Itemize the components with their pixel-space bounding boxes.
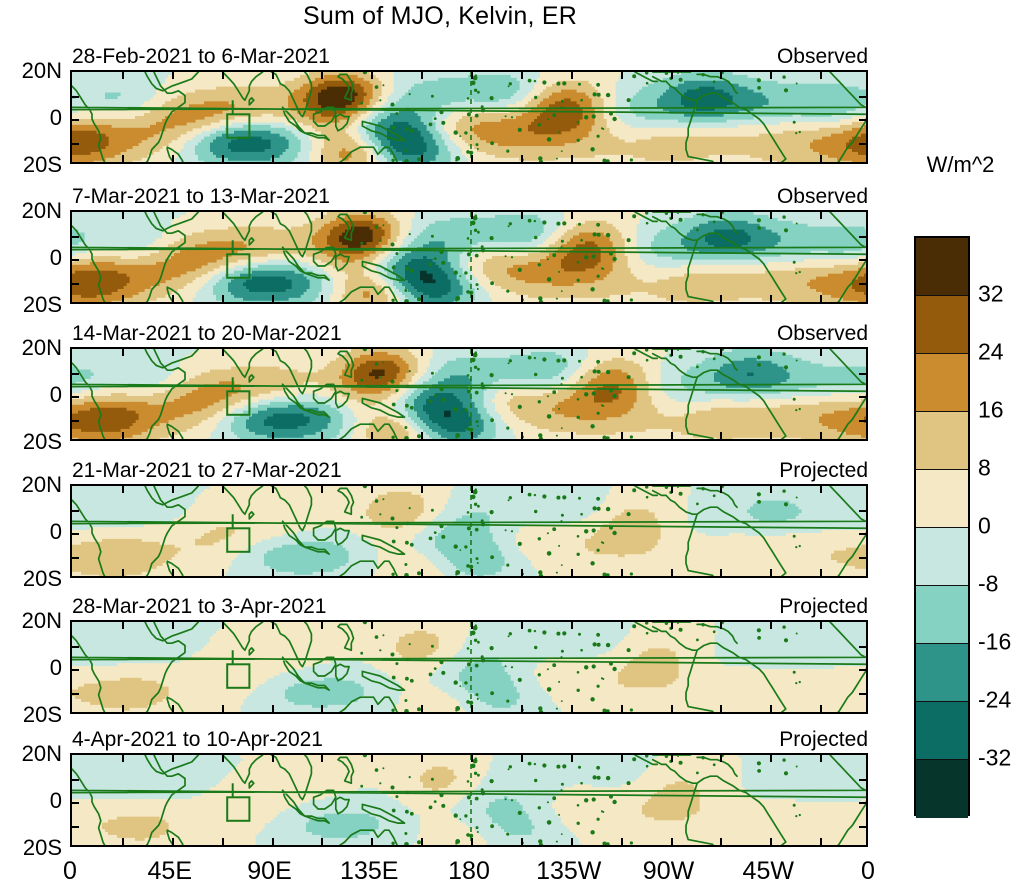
x-tick-mark xyxy=(122,486,124,493)
x-tick-mark xyxy=(720,155,722,162)
map-plot-area-4 xyxy=(70,484,868,578)
colorbar-band-4 xyxy=(916,470,968,528)
colorbar-units-label: W/m^2 xyxy=(900,152,1021,178)
x-tick-mark xyxy=(521,295,523,302)
y-tick-mark xyxy=(859,779,866,781)
y-axis-label-20s-panel-4: 20S xyxy=(23,566,62,592)
x-tick-mark xyxy=(571,155,573,162)
colorbar xyxy=(914,236,970,816)
y-tick-mark xyxy=(859,646,866,648)
x-tick-mark xyxy=(371,705,373,712)
x-tick-mark xyxy=(172,72,174,79)
y-tick-mark xyxy=(859,373,866,375)
x-tick-mark xyxy=(172,349,174,356)
panel-status-5: Projected xyxy=(779,595,868,619)
x-tick-mark xyxy=(222,432,224,439)
x-tick-mark xyxy=(321,569,323,576)
x-tick-mark xyxy=(521,705,523,712)
y-tick-mark xyxy=(72,259,79,261)
x-tick-mark xyxy=(621,349,623,356)
y-tick-mark xyxy=(72,96,79,98)
x-tick-mark xyxy=(321,838,323,845)
y-tick-mark xyxy=(72,396,79,398)
colorbar-tick-5: -8 xyxy=(978,571,998,598)
y-axis-label-20s-panel-6: 20S xyxy=(23,835,62,861)
x-tick-mark xyxy=(770,705,772,712)
y-tick-mark xyxy=(859,826,866,828)
x-tick-mark xyxy=(621,432,623,439)
colorbar-band-5 xyxy=(916,528,968,586)
x-tick-mark xyxy=(421,212,423,219)
x-tick-mark xyxy=(222,349,224,356)
y-tick-mark xyxy=(859,96,866,98)
x-tick-mark xyxy=(770,72,772,79)
x-tick-mark xyxy=(720,432,722,439)
y-tick-mark xyxy=(859,236,866,238)
x-tick-mark xyxy=(720,705,722,712)
y-tick-mark xyxy=(72,119,79,121)
x-tick-mark xyxy=(621,212,623,219)
x-tick-mark xyxy=(770,432,772,439)
y-tick-mark xyxy=(72,283,79,285)
x-tick-mark xyxy=(521,569,523,576)
y-axis-label-0-panel-3: 0 xyxy=(50,382,62,408)
colorbar-band-3 xyxy=(916,412,968,470)
y-tick-mark xyxy=(72,646,79,648)
panel-status-1: Observed xyxy=(777,45,868,69)
panel-title-3: 14-Mar-2021 to 20-Mar-2021 xyxy=(72,322,342,346)
y-tick-mark xyxy=(72,420,79,422)
x-tick-mark xyxy=(621,155,623,162)
x-tick-mark xyxy=(321,72,323,79)
y-axis-label-20n-panel-6: 20N xyxy=(22,741,62,767)
x-tick-mark xyxy=(222,838,224,845)
x-tick-mark xyxy=(321,622,323,629)
x-tick-mark xyxy=(321,155,323,162)
x-tick-mark xyxy=(222,569,224,576)
x-tick-mark xyxy=(720,486,722,493)
colorbar-tick-6: -16 xyxy=(978,629,1011,656)
y-tick-mark xyxy=(72,373,79,375)
x-tick-mark xyxy=(172,486,174,493)
x-tick-mark xyxy=(421,486,423,493)
y-axis-label-20s-panel-5: 20S xyxy=(23,702,62,728)
panel-status-4: Projected xyxy=(779,459,868,483)
y-axis-label-20n-panel-1: 20N xyxy=(22,58,62,84)
x-tick-mark xyxy=(621,72,623,79)
x-tick-mark xyxy=(571,755,573,762)
y-axis-label-20n-panel-2: 20N xyxy=(22,198,62,224)
x-tick-mark xyxy=(471,349,473,356)
x-tick-mark xyxy=(172,155,174,162)
x-tick-mark xyxy=(222,72,224,79)
x-tick-mark xyxy=(371,755,373,762)
y-tick-mark xyxy=(72,669,79,671)
x-tick-mark xyxy=(421,705,423,712)
y-axis-label-20s-panel-1: 20S xyxy=(23,152,62,178)
x-tick-mark xyxy=(172,295,174,302)
x-tick-mark xyxy=(571,432,573,439)
x-tick-mark xyxy=(770,212,772,219)
y-tick-mark xyxy=(859,259,866,261)
y-axis-label-20s-panel-2: 20S xyxy=(23,292,62,318)
x-tick-mark xyxy=(321,212,323,219)
panel-status-3: Observed xyxy=(777,322,868,346)
colorbar-band-2 xyxy=(916,354,968,412)
x-axis-label-5: 135W xyxy=(536,857,601,886)
x-tick-mark xyxy=(321,295,323,302)
x-tick-mark xyxy=(521,72,523,79)
x-tick-mark xyxy=(421,349,423,356)
x-tick-mark xyxy=(222,212,224,219)
anomaly-field xyxy=(72,349,868,441)
x-tick-mark xyxy=(371,349,373,356)
y-tick-mark xyxy=(859,119,866,121)
map-plot-area-5 xyxy=(70,620,868,714)
y-tick-mark xyxy=(859,669,866,671)
x-tick-mark xyxy=(521,755,523,762)
colorbar-band-0 xyxy=(916,238,968,296)
x-tick-mark xyxy=(820,705,822,712)
x-tick-mark xyxy=(421,755,423,762)
x-tick-mark xyxy=(820,569,822,576)
x-tick-mark xyxy=(820,755,822,762)
y-tick-mark xyxy=(859,533,866,535)
x-axis-label-0: 0 xyxy=(63,857,77,886)
panel-status-2: Observed xyxy=(777,185,868,209)
colorbar-band-7 xyxy=(916,644,968,702)
y-tick-mark xyxy=(859,283,866,285)
y-tick-mark xyxy=(72,510,79,512)
x-tick-mark xyxy=(621,838,623,845)
x-tick-mark xyxy=(521,486,523,493)
x-tick-mark xyxy=(471,755,473,762)
x-tick-mark xyxy=(671,212,673,219)
x-tick-mark xyxy=(471,569,473,576)
x-tick-mark xyxy=(321,755,323,762)
anomaly-field xyxy=(72,755,868,847)
x-tick-mark xyxy=(122,432,124,439)
x-tick-mark xyxy=(720,349,722,356)
x-tick-mark xyxy=(122,569,124,576)
y-axis-label-20n-panel-5: 20N xyxy=(22,608,62,634)
x-tick-mark xyxy=(671,295,673,302)
y-axis-label-0-panel-1: 0 xyxy=(50,105,62,131)
panel-title-4: 21-Mar-2021 to 27-Mar-2021 xyxy=(72,459,342,483)
x-tick-mark xyxy=(770,486,772,493)
x-tick-mark xyxy=(571,295,573,302)
x-tick-mark xyxy=(272,432,274,439)
x-tick-mark xyxy=(122,212,124,219)
x-tick-mark xyxy=(321,486,323,493)
x-tick-mark xyxy=(371,569,373,576)
y-tick-mark xyxy=(859,396,866,398)
x-tick-mark xyxy=(421,72,423,79)
x-tick-mark xyxy=(770,838,772,845)
y-tick-mark xyxy=(72,826,79,828)
colorbar-band-8 xyxy=(916,702,968,760)
x-tick-mark xyxy=(222,295,224,302)
x-tick-mark xyxy=(471,72,473,79)
x-tick-mark xyxy=(820,838,822,845)
colorbar-tick-7: -24 xyxy=(978,687,1011,714)
x-tick-mark xyxy=(272,486,274,493)
x-tick-mark xyxy=(421,295,423,302)
y-axis-label-0-panel-6: 0 xyxy=(50,788,62,814)
x-tick-mark xyxy=(571,212,573,219)
x-tick-mark xyxy=(272,622,274,629)
x-tick-mark xyxy=(471,622,473,629)
x-tick-mark xyxy=(671,838,673,845)
x-tick-mark xyxy=(770,155,772,162)
x-tick-mark xyxy=(820,622,822,629)
x-tick-mark xyxy=(770,349,772,356)
x-tick-mark xyxy=(321,705,323,712)
y-tick-mark xyxy=(859,143,866,145)
x-tick-mark xyxy=(720,72,722,79)
x-tick-mark xyxy=(820,349,822,356)
panel-title-1: 28-Feb-2021 to 6-Mar-2021 xyxy=(72,45,330,69)
x-tick-mark xyxy=(820,432,822,439)
map-plot-area-1 xyxy=(70,70,868,164)
y-axis-label-0-panel-5: 0 xyxy=(50,655,62,681)
colorbar-tick-3: 8 xyxy=(978,455,991,482)
x-tick-mark xyxy=(122,295,124,302)
x-axis-label-6: 90W xyxy=(643,857,694,886)
x-tick-mark xyxy=(820,212,822,219)
x-tick-mark xyxy=(371,212,373,219)
y-tick-mark xyxy=(859,557,866,559)
x-tick-mark xyxy=(521,432,523,439)
x-tick-mark xyxy=(421,432,423,439)
x-tick-mark xyxy=(371,155,373,162)
map-plot-area-6 xyxy=(70,753,868,847)
panel-title-2: 7-Mar-2021 to 13-Mar-2021 xyxy=(72,185,330,209)
x-tick-mark xyxy=(371,72,373,79)
x-tick-mark xyxy=(621,622,623,629)
x-tick-mark xyxy=(720,622,722,629)
x-tick-mark xyxy=(172,838,174,845)
map-plot-area-2 xyxy=(70,210,868,304)
x-tick-mark xyxy=(770,295,772,302)
x-tick-mark xyxy=(272,569,274,576)
x-tick-mark xyxy=(172,432,174,439)
figure-title: Sum of MJO, Kelvin, ER xyxy=(0,2,880,31)
colorbar-tick-labels: 32241680-8-16-24-32 xyxy=(978,236,1021,816)
x-tick-mark xyxy=(621,705,623,712)
x-tick-mark xyxy=(172,622,174,629)
x-tick-mark xyxy=(671,432,673,439)
map-plot-area-3 xyxy=(70,347,868,441)
x-tick-mark xyxy=(421,622,423,629)
x-tick-mark xyxy=(621,569,623,576)
x-tick-mark xyxy=(321,432,323,439)
x-tick-mark xyxy=(571,622,573,629)
x-tick-mark xyxy=(521,155,523,162)
x-tick-mark xyxy=(222,486,224,493)
x-tick-mark xyxy=(471,705,473,712)
colorbar-band-1 xyxy=(916,296,968,354)
y-axis-label-0-panel-4: 0 xyxy=(50,519,62,545)
x-tick-mark xyxy=(471,838,473,845)
colorbar-tick-4: 0 xyxy=(978,513,991,540)
x-tick-mark xyxy=(671,486,673,493)
x-tick-mark xyxy=(671,155,673,162)
x-tick-mark xyxy=(222,622,224,629)
x-tick-mark xyxy=(820,486,822,493)
x-tick-mark xyxy=(521,838,523,845)
y-axis-label-20s-panel-3: 20S xyxy=(23,429,62,455)
x-tick-mark xyxy=(671,569,673,576)
x-tick-mark xyxy=(621,295,623,302)
x-tick-mark xyxy=(421,569,423,576)
x-tick-mark xyxy=(521,349,523,356)
x-tick-mark xyxy=(272,755,274,762)
x-tick-mark xyxy=(471,212,473,219)
x-tick-mark xyxy=(122,705,124,712)
x-axis-label-7: 45W xyxy=(743,857,794,886)
x-tick-mark xyxy=(571,486,573,493)
x-axis-label-8: 0 xyxy=(861,857,875,886)
x-tick-mark xyxy=(272,705,274,712)
x-tick-mark xyxy=(471,155,473,162)
x-tick-mark xyxy=(222,155,224,162)
x-tick-mark xyxy=(671,755,673,762)
x-tick-mark xyxy=(272,212,274,219)
y-tick-mark xyxy=(72,143,79,145)
x-tick-mark xyxy=(421,838,423,845)
y-tick-mark xyxy=(72,802,79,804)
x-tick-mark xyxy=(222,755,224,762)
panel-title-6: 4-Apr-2021 to 10-Apr-2021 xyxy=(72,728,323,752)
colorbar-band-9 xyxy=(916,760,968,818)
anomaly-field xyxy=(72,72,868,164)
x-tick-mark xyxy=(671,72,673,79)
x-tick-mark xyxy=(571,838,573,845)
x-tick-mark xyxy=(770,569,772,576)
x-tick-mark xyxy=(720,755,722,762)
x-tick-mark xyxy=(172,569,174,576)
x-tick-mark xyxy=(770,622,772,629)
colorbar-tick-8: -32 xyxy=(978,745,1011,772)
x-tick-mark xyxy=(122,155,124,162)
x-tick-mark xyxy=(770,755,772,762)
colorbar-tick-0: 32 xyxy=(978,281,1004,308)
x-tick-mark xyxy=(222,705,224,712)
anomaly-field xyxy=(72,622,868,714)
x-tick-mark xyxy=(820,155,822,162)
x-tick-mark xyxy=(671,622,673,629)
x-tick-mark xyxy=(471,295,473,302)
x-tick-mark xyxy=(122,622,124,629)
x-tick-mark xyxy=(172,212,174,219)
x-axis-label-4: 180 xyxy=(448,857,490,886)
y-tick-mark xyxy=(72,693,79,695)
x-axis-label-2: 90E xyxy=(247,857,291,886)
x-tick-mark xyxy=(621,755,623,762)
y-tick-mark xyxy=(72,533,79,535)
x-tick-mark xyxy=(720,838,722,845)
x-tick-mark xyxy=(720,295,722,302)
x-axis-label-1: 45E xyxy=(148,857,192,886)
y-tick-mark xyxy=(859,802,866,804)
x-tick-mark xyxy=(371,295,373,302)
y-axis-label-0-panel-2: 0 xyxy=(50,245,62,271)
x-tick-mark xyxy=(471,486,473,493)
x-tick-mark xyxy=(321,349,323,356)
x-tick-mark xyxy=(122,838,124,845)
x-tick-mark xyxy=(571,72,573,79)
anomaly-field xyxy=(72,486,868,578)
x-tick-mark xyxy=(671,705,673,712)
x-tick-mark xyxy=(371,838,373,845)
panel-title-5: 28-Mar-2021 to 3-Apr-2021 xyxy=(72,595,326,619)
colorbar-tick-1: 24 xyxy=(978,339,1004,366)
x-tick-mark xyxy=(571,349,573,356)
x-tick-mark xyxy=(371,622,373,629)
x-axis-label-3: 135E xyxy=(340,857,398,886)
y-tick-mark xyxy=(72,557,79,559)
y-tick-mark xyxy=(859,420,866,422)
x-tick-mark xyxy=(720,212,722,219)
y-tick-mark xyxy=(72,236,79,238)
x-tick-mark xyxy=(621,486,623,493)
y-axis-label-20n-panel-3: 20N xyxy=(22,335,62,361)
x-tick-mark xyxy=(172,705,174,712)
x-tick-mark xyxy=(421,155,423,162)
x-tick-mark xyxy=(272,838,274,845)
y-tick-mark xyxy=(859,510,866,512)
y-tick-mark xyxy=(72,779,79,781)
x-tick-mark xyxy=(371,432,373,439)
x-axis: 045E90E135E180135W90W45W0 xyxy=(70,853,868,887)
colorbar-band-6 xyxy=(916,586,968,644)
panel-status-6: Projected xyxy=(779,728,868,752)
x-tick-mark xyxy=(720,569,722,576)
x-tick-mark xyxy=(820,295,822,302)
x-tick-mark xyxy=(272,349,274,356)
x-tick-mark xyxy=(122,349,124,356)
x-tick-mark xyxy=(122,72,124,79)
x-tick-mark xyxy=(521,622,523,629)
y-axis-label-20n-panel-4: 20N xyxy=(22,472,62,498)
x-tick-mark xyxy=(571,705,573,712)
anomaly-field xyxy=(72,212,868,304)
x-tick-mark xyxy=(471,432,473,439)
x-tick-mark xyxy=(371,486,373,493)
x-tick-mark xyxy=(671,349,673,356)
x-tick-mark xyxy=(272,72,274,79)
colorbar-tick-2: 16 xyxy=(978,397,1004,424)
x-tick-mark xyxy=(122,755,124,762)
x-tick-mark xyxy=(172,755,174,762)
x-tick-mark xyxy=(571,569,573,576)
x-tick-mark xyxy=(272,295,274,302)
figure-root: Sum of MJO, Kelvin, ER 28-Feb-2021 to 6-… xyxy=(0,0,1021,889)
y-tick-mark xyxy=(859,693,866,695)
x-tick-mark xyxy=(272,155,274,162)
x-tick-mark xyxy=(521,212,523,219)
x-tick-mark xyxy=(820,72,822,79)
